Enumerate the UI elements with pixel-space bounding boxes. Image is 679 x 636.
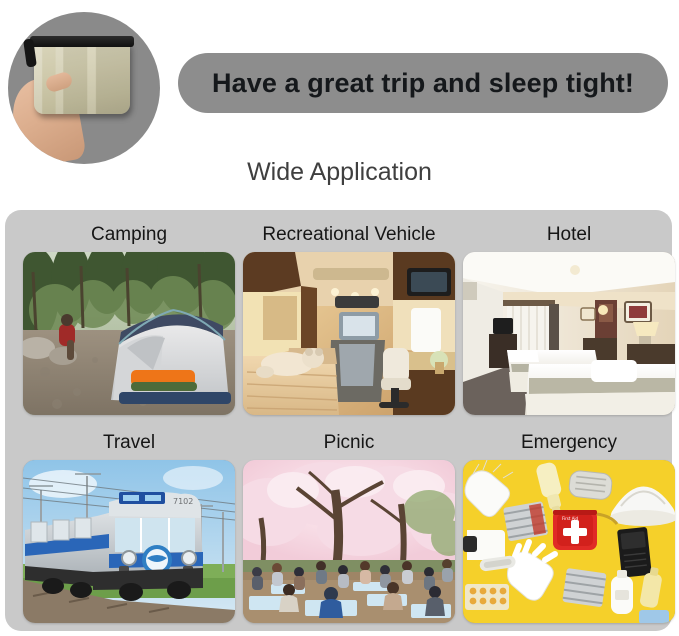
application-tile-camping: Camping — [23, 224, 235, 415]
application-grid-panel: Camping — [5, 210, 672, 631]
slogan-banner: Have a great trip and sleep tight! — [178, 53, 668, 113]
svg-text:First Aid: First Aid — [562, 516, 579, 521]
application-tile-travel: Travel — [23, 432, 235, 623]
svg-text:7102: 7102 — [173, 497, 193, 506]
tile-label: Camping — [23, 224, 235, 246]
tile-label: Hotel — [463, 224, 675, 246]
application-tile-picnic: Picnic — [243, 432, 455, 623]
tile-label: Picnic — [243, 432, 455, 454]
camping-photo — [23, 252, 235, 415]
picnic-photo — [243, 460, 455, 623]
zipper-icon — [30, 36, 134, 47]
product-photo-circle — [8, 12, 160, 164]
train-photo: 7102 — [23, 460, 235, 623]
rv-interior-photo — [243, 252, 455, 415]
application-tile-hotel: Hotel — [463, 224, 675, 415]
application-tile-emergency: Emergency — [463, 432, 675, 623]
hotel-room-photo — [463, 252, 675, 415]
emergency-kit-photo: First Aid — [463, 460, 675, 623]
tile-label: Emergency — [463, 432, 675, 454]
section-title: Wide Application — [0, 158, 679, 187]
infographic-canvas: Have a great trip and sleep tight! Wide … — [0, 0, 679, 636]
tile-label: Recreational Vehicle — [243, 224, 455, 246]
tile-label: Travel — [23, 432, 235, 454]
slogan-text: Have a great trip and sleep tight! — [212, 68, 634, 99]
application-tile-recreational-vehicle: Recreational Vehicle — [243, 224, 455, 415]
